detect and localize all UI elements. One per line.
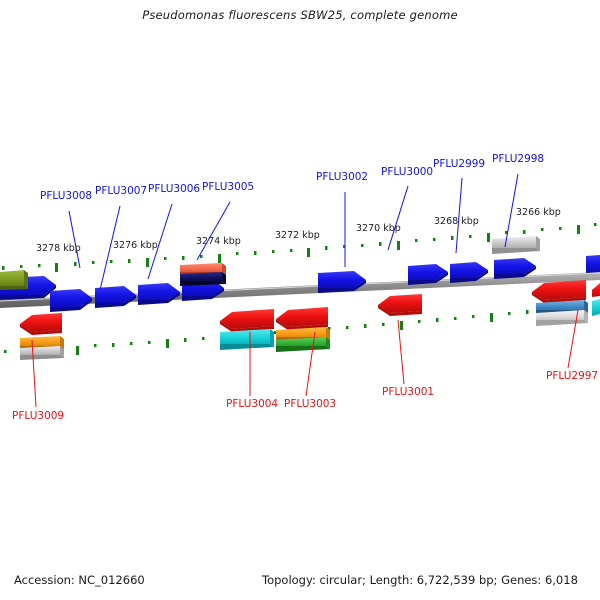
feature-bar-grey-lower[interactable] <box>20 346 64 360</box>
feature-bar-cyan-edge[interactable] <box>592 299 600 316</box>
scale-tick-3272: 3272 kbp <box>275 230 320 241</box>
feature-bar-navy[interactable] <box>180 272 226 286</box>
forward-strand-features <box>0 236 600 312</box>
feature-bar-cyan[interactable] <box>220 329 274 350</box>
gene-label-PFLU3007[interactable]: PFLU3007 <box>95 185 147 197</box>
gene-label-PFLU2999[interactable]: PFLU2999 <box>433 158 485 170</box>
gene-label-PFLU2997[interactable]: PFLU2997 <box>546 370 598 382</box>
gene-glyph-PFLU3003[interactable] <box>276 307 328 330</box>
gene-label-PFLU3002[interactable]: PFLU3002 <box>316 171 368 183</box>
genome-browser-canvas: Pseudomonas fluorescens SBW25, complete … <box>0 0 600 600</box>
gene-glyph-PFLU3007[interactable] <box>95 286 136 308</box>
genome-track-graphic <box>0 0 600 600</box>
gene-label-PFLU2998[interactable]: PFLU2998 <box>492 153 544 165</box>
accession-text: Accession: NC_012660 <box>14 573 145 587</box>
gene-glyph-PFLU3008[interactable] <box>50 289 92 312</box>
gene-label-PFLU3005[interactable]: PFLU3005 <box>202 181 254 193</box>
scale-tick-3268: 3268 kbp <box>434 216 479 227</box>
gene-label-PFLU3008[interactable]: PFLU3008 <box>40 190 92 202</box>
gene-glyph-olive[interactable] <box>0 270 28 290</box>
scale-tick-3266: 3266 kbp <box>516 207 561 218</box>
gene-glyph-PFLU3004[interactable] <box>220 309 274 332</box>
scale-tick-3270: 3270 kbp <box>356 223 401 234</box>
gene-glyph-PFLU3006[interactable] <box>138 283 180 305</box>
genome-summary-text: Topology: circular; Length: 6,722,539 bp… <box>262 573 578 587</box>
scale-tick-3274: 3274 kbp <box>196 236 241 247</box>
gene-glyph-PFLU3009[interactable] <box>20 313 62 335</box>
scale-tick-3276: 3276 kbp <box>113 240 158 251</box>
gene-glyph-forward-edge[interactable] <box>586 255 600 273</box>
gene-glyph-PFLU3001[interactable] <box>378 294 422 316</box>
gene-glyph-reverse-edge[interactable] <box>592 283 600 297</box>
gene-label-PFLU3004[interactable]: PFLU3004 <box>226 398 278 410</box>
gene-label-PFLU3000[interactable]: PFLU3000 <box>381 166 433 178</box>
scale-tick-3278: 3278 kbp <box>36 243 81 254</box>
gene-glyph-PFLU2997[interactable] <box>532 280 586 303</box>
gene-label-PFLU3006[interactable]: PFLU3006 <box>148 183 200 195</box>
gene-label-PFLU3003[interactable]: PFLU3003 <box>284 398 336 410</box>
feature-bar-grey[interactable] <box>492 236 540 254</box>
gene-label-PFLU3009[interactable]: PFLU3009 <box>12 410 64 422</box>
gene-label-PFLU3001[interactable]: PFLU3001 <box>382 386 434 398</box>
